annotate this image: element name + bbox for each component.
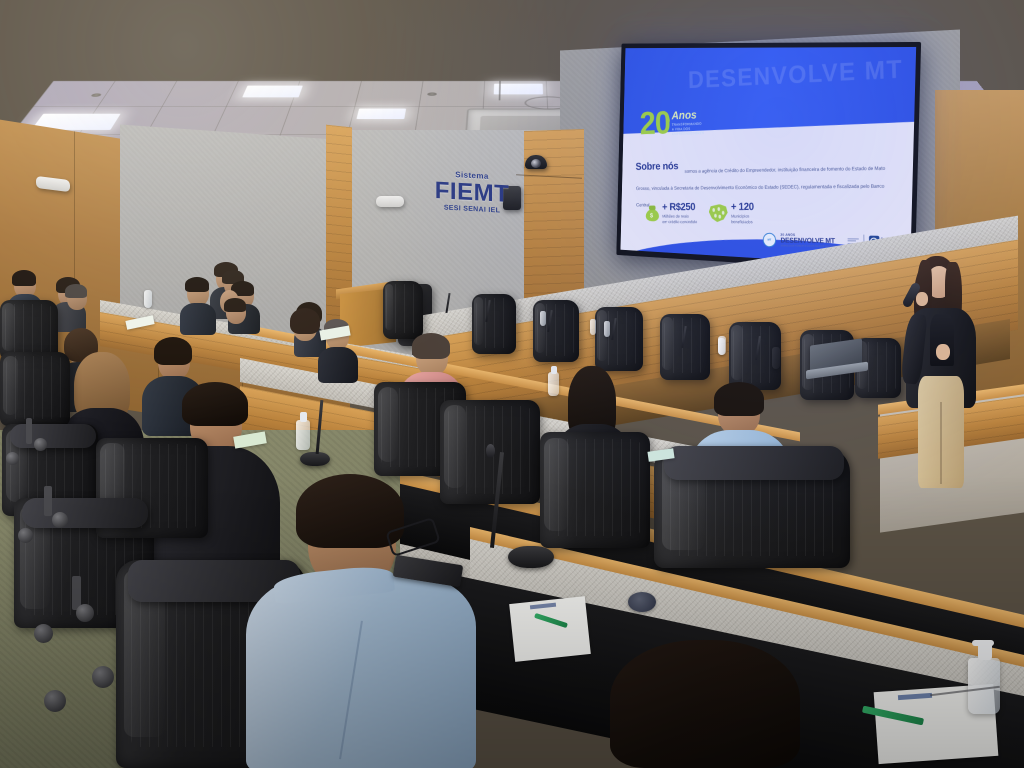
audience-chair <box>0 352 70 426</box>
attendee-hair <box>154 337 192 365</box>
anniversary-number: 20 <box>639 110 670 139</box>
attendee-hair <box>185 277 209 292</box>
fiemt-wall-logo: Sistema FIEMT SESI SENAI IEL <box>424 169 520 215</box>
water-bottle <box>772 347 780 369</box>
head-table-chair <box>595 307 643 371</box>
attendee-hair <box>412 333 450 359</box>
money-bag-icon: $ <box>645 206 658 222</box>
anniversary-tagline: TRANSFORMANDO A VIDA DOS EMPREENDEDORES <box>672 122 704 137</box>
hand-sanitizer-bottle[interactable] <box>296 420 310 450</box>
ceiling-panel-light <box>242 86 303 98</box>
hand-sanitizer-nozzle <box>972 640 994 646</box>
attendee <box>180 280 216 332</box>
bottle-cap <box>551 366 557 374</box>
attendee-torso <box>180 303 216 335</box>
ceiling-panel-light <box>356 109 406 120</box>
head-table-chair <box>383 281 423 339</box>
stat-caption: Municípios beneficiados <box>731 214 754 225</box>
presentation-slide: DESENVOLVE MT 20 Anos TRANSFORMANDO A VI… <box>620 47 916 268</box>
security-camera-icon <box>525 155 547 169</box>
chair-base-post <box>44 486 52 516</box>
bottle-cap <box>300 412 307 422</box>
stat-item: + 120 Municípios beneficiados <box>708 202 753 225</box>
water-bottle <box>540 311 546 326</box>
chair-caster <box>52 512 68 528</box>
water-bottle <box>604 321 610 337</box>
stat-item: $ + R$250 Milhões de reais em crédito co… <box>645 202 697 225</box>
mato-grosso-map-icon <box>708 204 727 222</box>
stat-value: + R$250 <box>662 202 697 213</box>
attendee-hair <box>12 270 36 286</box>
stat-value: + 120 <box>731 202 754 213</box>
attendee <box>246 470 476 768</box>
head-table-chair <box>533 300 579 362</box>
water-bottle[interactable] <box>144 290 152 308</box>
attendee <box>284 312 326 374</box>
presenter-trouser-crease <box>940 402 942 484</box>
chair-caster <box>6 452 19 465</box>
attendee <box>610 640 800 768</box>
attendee-hair <box>714 382 764 416</box>
desk-microphone-base <box>300 452 330 466</box>
chair-headrest <box>22 498 148 528</box>
attendee <box>62 286 94 330</box>
attendee-hair <box>290 308 320 334</box>
water-bottle[interactable] <box>718 336 726 355</box>
head-table-chair <box>660 314 710 380</box>
desenvolve-brand-logo: 20 ANOS DESENVOLVE MT AGENCIA DE FOMENTO… <box>780 233 842 248</box>
attendee <box>222 300 252 342</box>
slide-heading: Sobre nós <box>635 161 678 173</box>
presenter-hand <box>936 344 950 360</box>
slide-statistics: $ + R$250 Milhões de reais em crédito co… <box>645 201 892 225</box>
presenter-hand <box>916 292 928 306</box>
water-bottle <box>590 319 596 335</box>
hand-sanitizer-bottle[interactable] <box>548 372 559 396</box>
anniversary-logo: 20 Anos TRANSFORMANDO A VIDA DOS EMPREEN… <box>639 108 704 138</box>
conference-room-photo: Sistema FIEMT SESI SENAI IEL DESENVOLVE … <box>0 0 1024 768</box>
desk-microphone-base <box>508 546 554 568</box>
desk-microphone-head <box>486 444 495 458</box>
brand-name: DESENVOLVE MT <box>780 237 842 245</box>
power-socket[interactable] <box>628 592 656 612</box>
attendee-hair <box>610 640 800 768</box>
seal-icon: MT <box>763 232 776 246</box>
attendee-hair <box>224 298 246 312</box>
chair-caster <box>76 604 94 622</box>
attendee-hair <box>65 284 87 298</box>
chair-caster <box>92 666 114 688</box>
chair-caster <box>18 528 33 543</box>
chair-headrest <box>664 446 844 480</box>
wall-speaker <box>376 196 404 207</box>
attendee-hair <box>182 382 248 426</box>
chair-caster <box>34 438 47 451</box>
chair-base-post <box>26 418 32 444</box>
audience-chair <box>0 300 58 360</box>
chair-caster <box>34 624 53 643</box>
attendee-denim-shirt <box>246 576 476 768</box>
ceiling-panel-light <box>494 84 543 95</box>
chair-caster <box>44 690 66 712</box>
fiemt-logo-line2: FIEMT <box>424 178 520 207</box>
presenter <box>890 252 1000 497</box>
chair-headrest <box>10 424 96 448</box>
stat-caption: Milhões de reais em crédito concedido <box>662 214 697 225</box>
audience-chair <box>540 432 650 548</box>
head-table-chair <box>472 294 516 354</box>
anniversary-word: Anos <box>671 109 703 121</box>
